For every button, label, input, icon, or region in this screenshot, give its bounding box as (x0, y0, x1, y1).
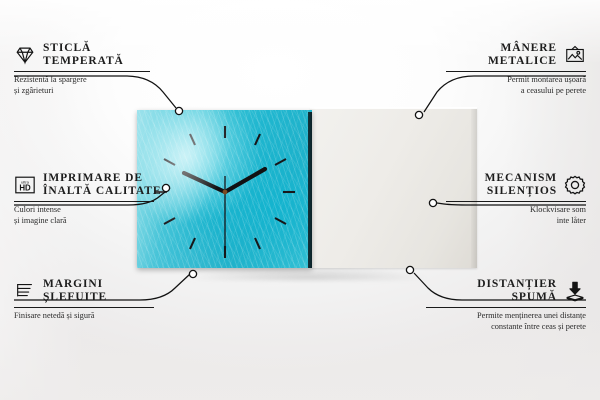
callout-margini-slefuite: MARGINI ȘLEFUITE Finisare netedă și sigu… (14, 278, 154, 322)
callout-header: MARGINI ȘLEFUITE (14, 278, 154, 304)
callout-header: MECANISM SILENȚIOS (446, 172, 586, 198)
callout-mecanism-silentios: MECANISM SILENȚIOS Klockvisare som inte … (446, 172, 586, 226)
callout-description: Rezistentă la spargere și zgârieturi (14, 75, 150, 96)
callout-description: Culori intense și imagine clară (14, 205, 154, 226)
callout-title: DISTANȚIER SPUMĂ (477, 278, 557, 304)
callout-header: DISTANȚIER SPUMĂ (426, 278, 586, 304)
svg-text:HD: HD (19, 184, 31, 193)
callout-title: MARGINI ȘLEFUITE (43, 278, 107, 304)
callout-title: STICLĂ TEMPERATĂ (43, 42, 124, 68)
callout-rule (446, 71, 586, 72)
callout-rule (14, 201, 154, 202)
foam-spacer-icon (564, 280, 586, 302)
callout-header: MÂNERE METALICE (446, 42, 586, 68)
callout-description: Klockvisare som inte låter (446, 205, 586, 226)
polished-edges-icon (14, 280, 36, 302)
clock-dial (137, 112, 312, 268)
callout-manere-metalice: MÂNERE METALICE Permit montarea ușoară a… (446, 42, 586, 96)
clock-back-top-edge (310, 107, 477, 109)
callout-description: Permite menținerea unei distanțe constan… (426, 311, 586, 332)
callout-imprimare-inalta-calitate: ultra HD IMPRIMARE DE ÎNALTĂ CALITATE Cu… (14, 172, 154, 226)
callout-title: IMPRIMARE DE ÎNALTĂ CALITATE (43, 172, 161, 198)
picture-hanger-icon (564, 44, 586, 66)
product-image (137, 108, 477, 271)
callout-header: ultra HD IMPRIMARE DE ÎNALTĂ CALITATE (14, 172, 154, 198)
diamond-icon (14, 44, 36, 66)
callout-rule (446, 201, 586, 202)
callout-rule (14, 71, 150, 72)
callout-rule (14, 307, 154, 308)
ultra-hd-icon: ultra HD (14, 174, 36, 196)
infographic-stage: STICLĂ TEMPERATĂ Rezistentă la spargere … (0, 0, 600, 400)
callout-sticla-temperata: STICLĂ TEMPERATĂ Rezistentă la spargere … (14, 42, 150, 96)
gear-icon (564, 174, 586, 196)
callout-title: MÂNERE METALICE (488, 42, 557, 68)
glass-edge (308, 112, 312, 268)
callout-distantier-spuma: DISTANȚIER SPUMĂ Permite menținerea unei… (426, 278, 586, 332)
callout-description: Finisare netedă și sigură (14, 311, 154, 322)
callout-header: STICLĂ TEMPERATĂ (14, 42, 150, 68)
callout-title: MECANISM SILENȚIOS (485, 172, 557, 198)
clock-front-panel (137, 110, 312, 268)
callout-rule (426, 307, 586, 308)
callout-description: Permit montarea ușoară a ceasului pe per… (446, 75, 586, 96)
